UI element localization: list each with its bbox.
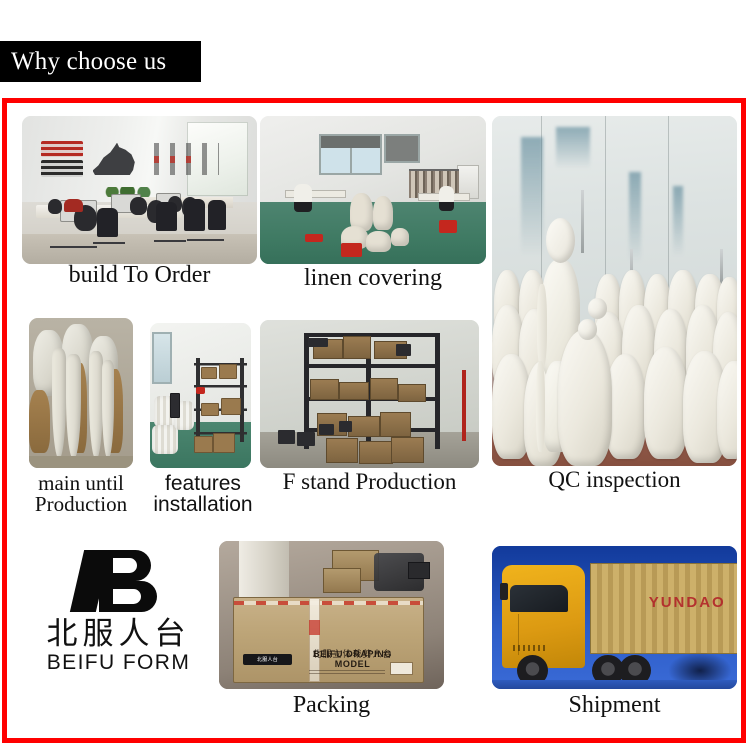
section-header-banner: Why choose us [0, 41, 201, 82]
caption-shipment: Shipment [492, 693, 737, 717]
caption-f-stand-production: F stand Production [260, 470, 479, 493]
gallery-item-features-installation[interactable] [150, 323, 251, 468]
photo-packing: 北服人台 北服立体裁剪人台 BEIFU DRAPING MODEL [219, 541, 444, 689]
photo-build-to-order [22, 116, 257, 264]
caption-packing: Packing [219, 693, 444, 717]
caption-features-installation: features installation [143, 473, 263, 516]
gallery-item-qc-inspection[interactable] [492, 116, 737, 466]
logo-chinese-name: 北服人台 [47, 618, 191, 651]
photo-main-until-production [29, 318, 133, 468]
truck-container: YUNDAO [590, 563, 737, 654]
gallery-item-shipment[interactable]: YUNDAO [492, 546, 737, 689]
gallery-item-build-to-order[interactable] [22, 116, 257, 264]
fb-monogram-icon [71, 550, 167, 612]
carton-brand-label: 北服人台 [243, 654, 292, 665]
truck-cab [502, 565, 585, 668]
gallery-grid: build To Order linen covering [7, 103, 741, 738]
gallery-item-main-until-production[interactable] [29, 318, 133, 468]
carton-logo-text: 北服人台 [257, 656, 278, 663]
logo-english-name: BEIFU FORM [47, 651, 191, 674]
gallery-item-f-stand-production[interactable] [260, 320, 479, 468]
photo-qc-inspection [492, 116, 737, 466]
company-logo-panel: 北服人台 BEIFU FORM [21, 523, 216, 701]
page-title: Why choose us [0, 49, 166, 74]
container-text: YUNDAO [649, 594, 726, 611]
photo-linen-covering [260, 116, 486, 264]
caption-build-to-order: build To Order [22, 263, 257, 287]
gallery-frame: build To Order linen covering [2, 98, 746, 743]
gallery-item-packing[interactable]: 北服人台 北服立体裁剪人台 BEIFU DRAPING MODEL [219, 541, 444, 689]
gallery-item-linen-covering[interactable] [260, 116, 486, 264]
caption-qc-inspection: QC inspection [492, 468, 737, 491]
caption-main-until-production: main until Production [15, 473, 147, 516]
photo-features-installation [150, 323, 251, 468]
photo-shipment: YUNDAO [492, 546, 737, 689]
shipping-carton: 北服人台 北服立体裁剪人台 BEIFU DRAPING MODEL [233, 597, 424, 683]
photo-f-stand-production [260, 320, 479, 468]
caption-linen-covering: linen covering [260, 266, 486, 290]
